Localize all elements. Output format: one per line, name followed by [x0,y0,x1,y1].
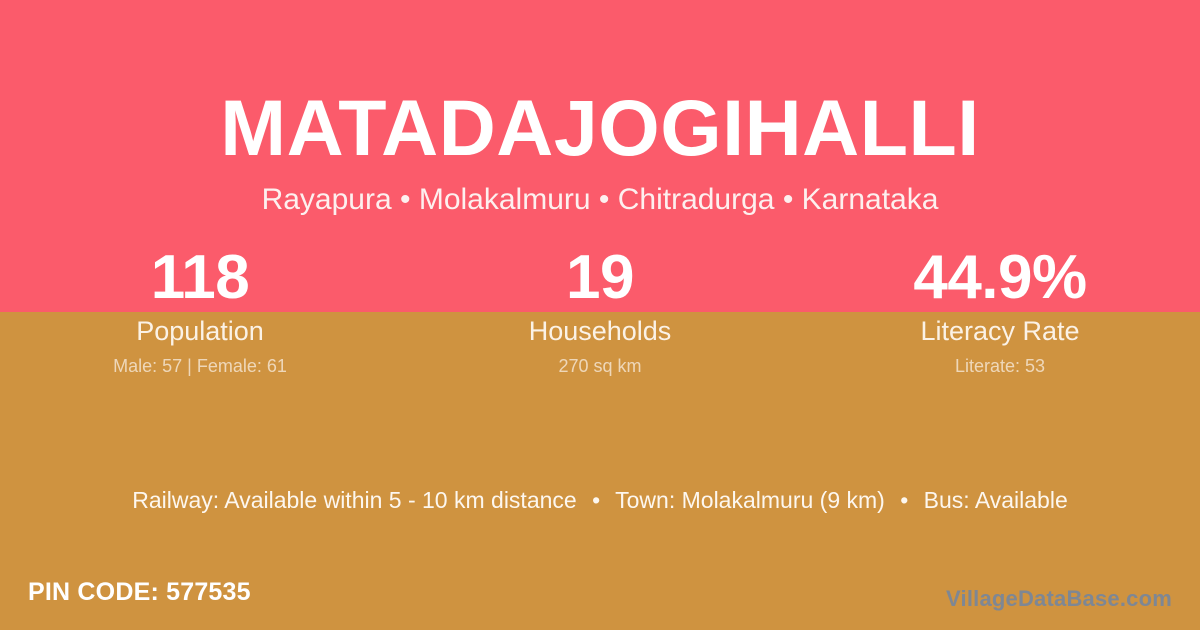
info-town: Town: Molakalmuru (9 km) [615,487,885,513]
info-separator-2: • [891,485,917,515]
stat-population-value: 118 [0,244,400,312]
stats-row: 118 Population Male: 57 | Female: 61 19 … [0,244,1200,377]
stat-population-label: Population [0,315,400,347]
info-separator-1: • [583,485,609,515]
info-railway: Railway: Available within 5 - 10 km dist… [132,487,576,513]
pin-code: PIN CODE: 577535 [28,577,251,607]
breadcrumb: Rayapura • Molakalmuru • Chitradurga • K… [0,182,1200,218]
amenities-line: Railway: Available within 5 - 10 km dist… [0,485,1200,515]
page-title: MATADAJOGIHALLI [0,86,1200,170]
stat-households-label: Households [400,315,800,347]
info-bus: Bus: Available [924,487,1068,513]
stat-literacy-rate-label: Literacy Rate [800,315,1200,347]
village-info-card: MATADAJOGIHALLI Rayapura • Molakalmuru •… [0,0,1200,630]
stat-households-sub: 270 sq km [400,355,800,377]
stat-literacy-rate-value: 44.9% [800,244,1200,312]
stat-households: 19 Households 270 sq km [400,244,800,377]
stat-literacy-rate-sub: Literate: 53 [800,355,1200,377]
stat-households-value: 19 [400,244,800,312]
brand-watermark: VillageDataBase.com [946,585,1172,613]
stat-population-sub: Male: 57 | Female: 61 [0,355,400,377]
stat-literacy-rate: 44.9% Literacy Rate Literate: 53 [800,244,1200,377]
stat-population: 118 Population Male: 57 | Female: 61 [0,244,400,377]
